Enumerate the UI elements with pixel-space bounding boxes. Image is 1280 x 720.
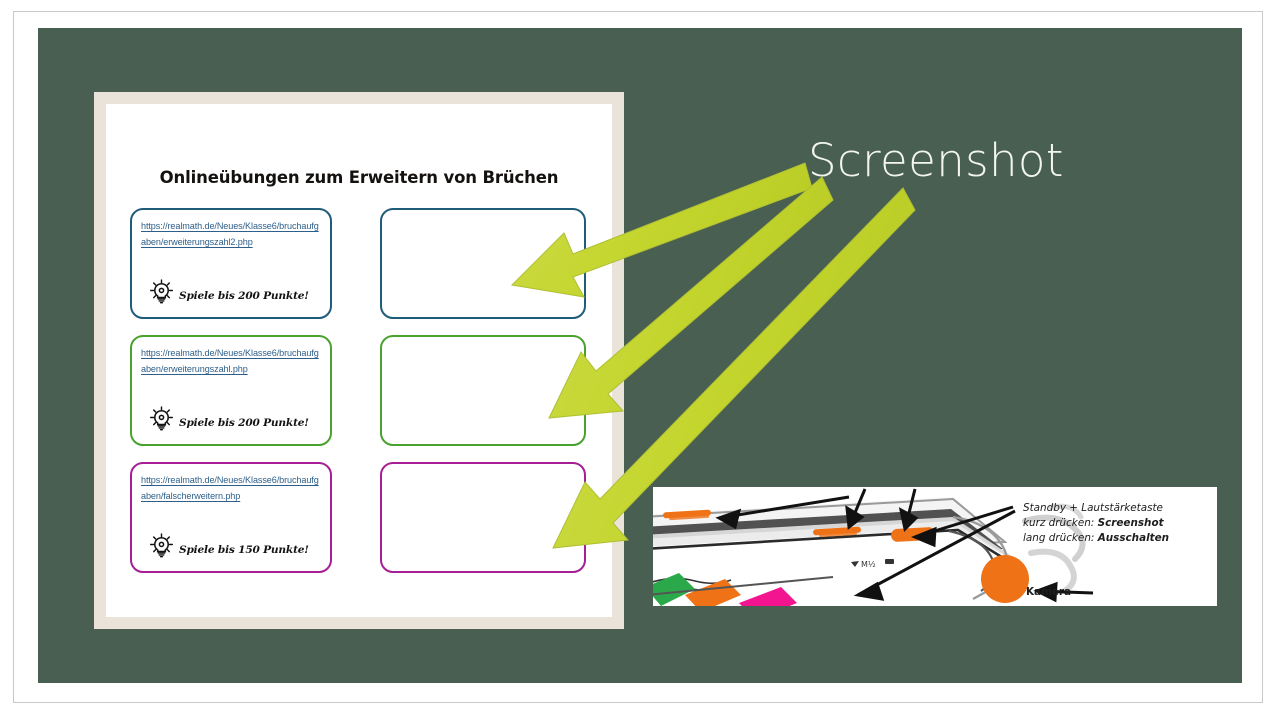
exercise-url-2[interactable]: https://realmath.de/Neues/Klasse6/brucha… bbox=[141, 346, 323, 377]
svg-text:M½: M½ bbox=[861, 560, 876, 569]
hint-text-2: Spiele bis 200 Punkte! bbox=[179, 417, 309, 432]
exercise-url-3[interactable]: https://realmath.de/Neues/Klasse6/brucha… bbox=[141, 473, 323, 504]
lightbulb-icon bbox=[148, 532, 175, 559]
page-title: Onlineübungen zum Erweitern von Brüchen bbox=[106, 168, 612, 187]
photo-caption: Standby + Lautstärketaste kurz drücken: … bbox=[1023, 501, 1169, 547]
document-page: Onlineübungen zum Erweitern von Brüchen … bbox=[106, 104, 612, 617]
tablet-photo[interactable]: M½ bbox=[653, 487, 1217, 606]
caption-line-2: kurz drücken: Screenshot bbox=[1023, 516, 1169, 531]
link-box-3[interactable]: https://realmath.de/Neues/Klasse6/brucha… bbox=[130, 462, 332, 573]
hint-text-3: Spiele bis 150 Punkte! bbox=[179, 544, 309, 559]
screenshot-label: Screenshot bbox=[808, 134, 1064, 187]
link-box-1[interactable]: https://realmath.de/Neues/Klasse6/brucha… bbox=[130, 208, 332, 319]
blank-box-3[interactable] bbox=[380, 462, 586, 573]
blank-box-2[interactable] bbox=[380, 335, 586, 446]
caption-line-2-bold: Screenshot bbox=[1098, 517, 1164, 529]
lightbulb-icon bbox=[148, 278, 175, 305]
document-thumbnail[interactable]: Onlineübungen zum Erweitern von Brüchen … bbox=[94, 92, 624, 629]
exercise-url-1[interactable]: https://realmath.de/Neues/Klasse6/brucha… bbox=[141, 219, 323, 250]
hint-row-2: Spiele bis 200 Punkte! bbox=[148, 405, 309, 432]
caption-line-3: lang drücken: Ausschalten bbox=[1023, 531, 1169, 546]
hint-text-1: Spiele bis 200 Punkte! bbox=[179, 290, 309, 305]
caption-line-2-prefix: kurz drücken: bbox=[1023, 517, 1098, 529]
hint-row-1: Spiele bis 200 Punkte! bbox=[148, 278, 309, 305]
blank-box-1[interactable] bbox=[380, 208, 586, 319]
caption-line-1: Standby + Lautstärketaste bbox=[1023, 501, 1169, 516]
lightbulb-icon bbox=[148, 405, 175, 432]
link-box-2[interactable]: https://realmath.de/Neues/Klasse6/brucha… bbox=[130, 335, 332, 446]
hint-row-3: Spiele bis 150 Punkte! bbox=[148, 532, 309, 559]
caption-line-3-prefix: lang drücken: bbox=[1023, 532, 1098, 544]
kamera-label: Kamera bbox=[1026, 586, 1071, 598]
slide-root: Onlineübungen zum Erweitern von Brüchen … bbox=[0, 0, 1280, 720]
caption-line-3-bold: Ausschalten bbox=[1098, 532, 1169, 544]
